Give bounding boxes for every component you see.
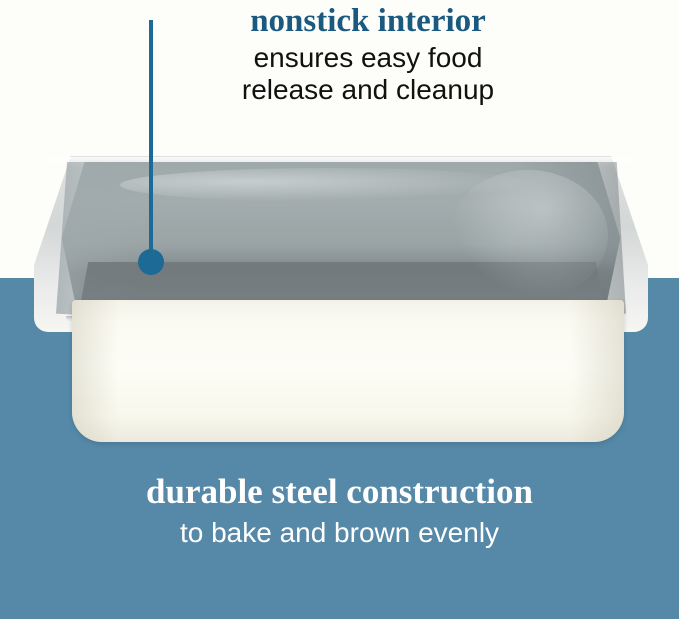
callout-dot — [138, 249, 164, 275]
callout-subline-line1: ensures easy food — [168, 42, 568, 74]
bottom-headline: durable steel construction — [0, 472, 679, 512]
bottom-text-block: durable steel construction to bake and b… — [0, 472, 679, 550]
callout-subline-line2: release and cleanup — [168, 74, 568, 106]
callout-leader-line — [149, 20, 153, 263]
bottom-subline: to bake and brown evenly — [0, 512, 679, 550]
product-feature-image: nonstick interior ensures easy food rele… — [0, 0, 679, 619]
background-bottom-blue — [0, 278, 679, 619]
callout-headline: nonstick interior — [168, 0, 568, 40]
callout-text-block: nonstick interior ensures easy food rele… — [168, 0, 568, 106]
callout-subline: ensures easy food release and cleanup — [168, 40, 568, 106]
